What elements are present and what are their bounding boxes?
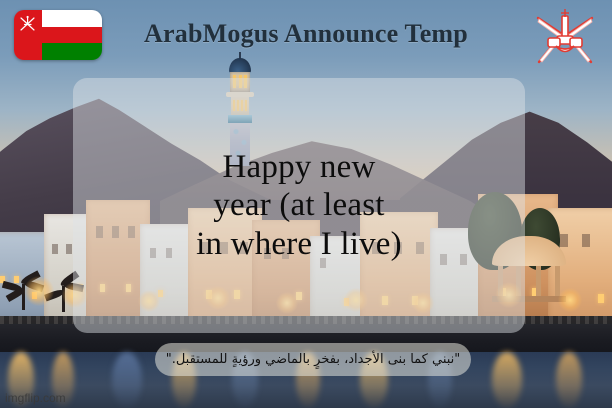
arabic-caption-text: "نبني كما بنى الأجداد، بفخرٍ بالماضي ورؤ… — [166, 352, 461, 367]
oman-national-emblem-icon — [532, 6, 598, 68]
meme-header: ArabMogus Announce Temp — [0, 0, 612, 68]
meme-text-line: year (at least — [213, 187, 384, 223]
oman-flag-icon — [14, 10, 102, 60]
water-reflection — [112, 352, 142, 408]
meme-main-text: Happy new year (at least in where I live… — [174, 148, 424, 263]
page-title: ArabMogus Announce Temp — [144, 19, 468, 49]
water-reflection — [556, 352, 582, 408]
meme-image: ArabMogus Announce Temp — [0, 0, 612, 408]
meme-text-line: Happy new — [222, 149, 375, 185]
water-reflection — [492, 352, 522, 408]
meme-text-line: in where I live) — [196, 226, 402, 262]
imgflip-watermark: imgflip.com — [5, 391, 66, 405]
street-lamp-glow — [558, 288, 582, 312]
arabic-caption-pill: "نبني كما بنى الأجداد، بفخرٍ بالماضي ورؤ… — [155, 343, 471, 376]
street-lamp-glow — [24, 276, 54, 306]
text-overlay-panel: Happy new year (at least in where I live… — [73, 78, 525, 333]
